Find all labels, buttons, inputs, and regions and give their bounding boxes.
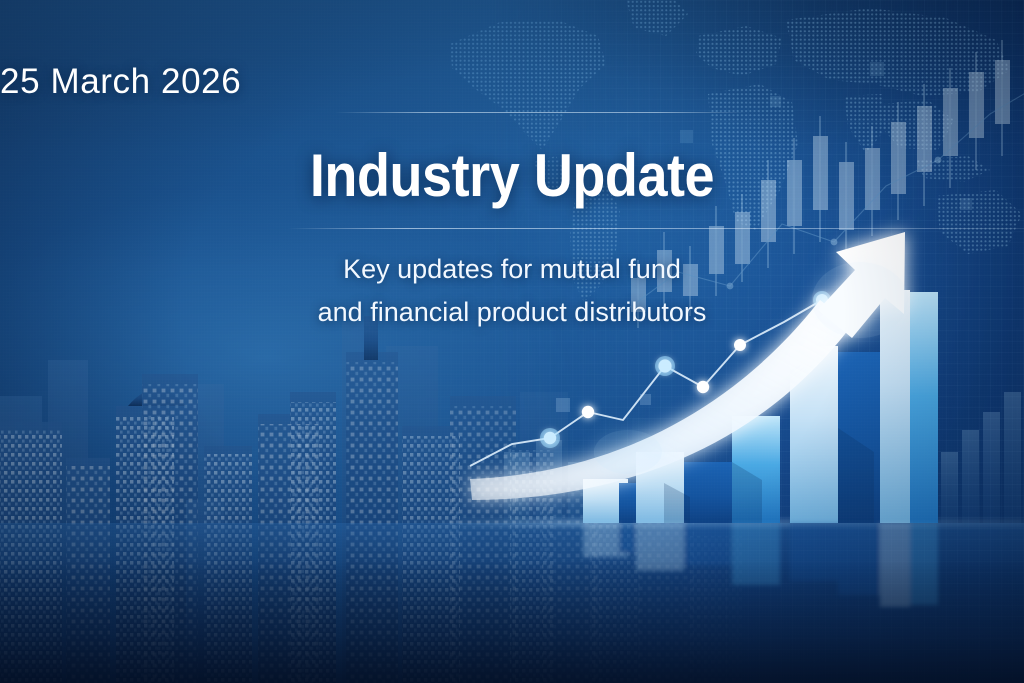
divider-top: [335, 112, 747, 113]
divider-bottom: [288, 228, 1024, 229]
bottom-shade: [0, 560, 1024, 683]
subtitle-line-2: and financial product distributors: [0, 291, 1024, 334]
page-title: Industry Update: [51, 141, 973, 210]
subtitle: Key updates for mutual fund and financia…: [0, 248, 1024, 333]
subtitle-line-1: Key updates for mutual fund: [343, 254, 681, 284]
date-label: 25 March 2026: [0, 62, 780, 102]
industry-update-banner: 25 March 2026 Industry Update Key update…: [0, 0, 1024, 683]
